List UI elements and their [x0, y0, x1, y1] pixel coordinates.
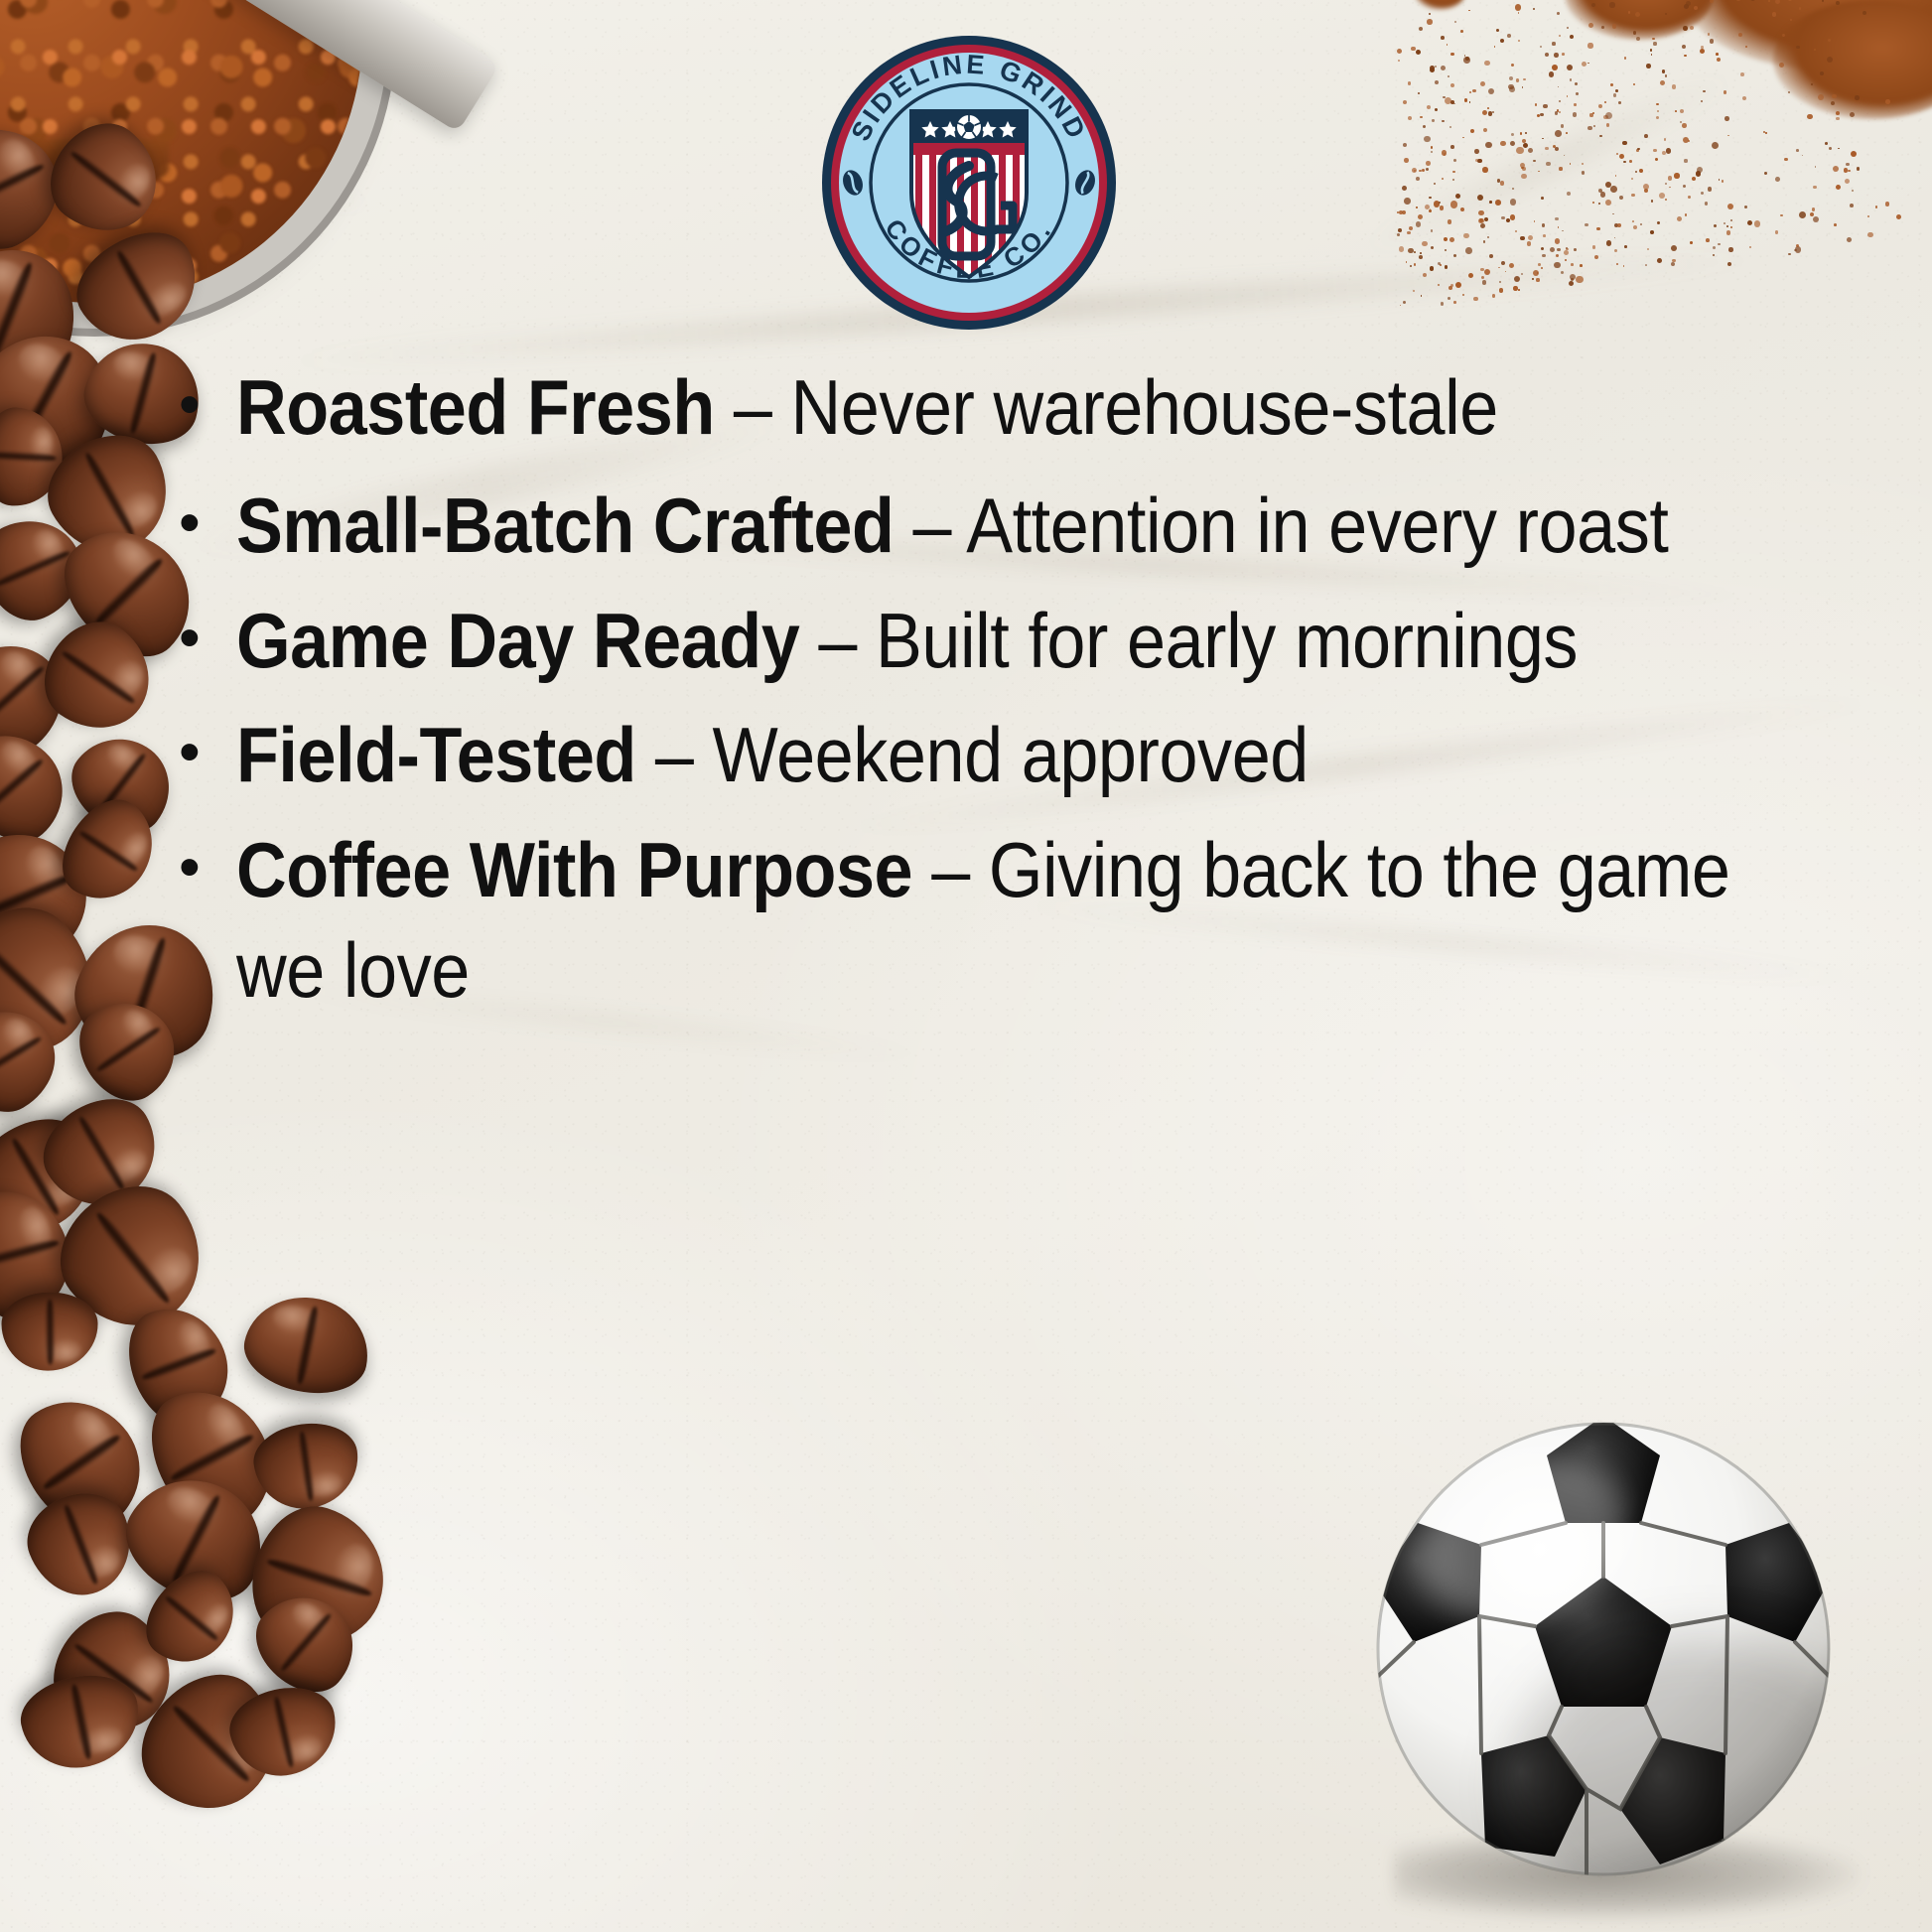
- bullet-game-day-ready: •Game Day Ready – Built for early mornin…: [179, 591, 1926, 691]
- bullet-title: Coffee With Purpose: [236, 826, 912, 913]
- bullet-marker: •: [179, 820, 236, 915]
- bullet-detail: – Attention in every roast: [894, 482, 1668, 569]
- bullet-detail: – Built for early mornings: [799, 597, 1578, 684]
- bullet-marker: •: [179, 591, 236, 686]
- bullet-field-tested: •Field-Tested – Weekend approved: [179, 705, 1926, 805]
- bullet-marker: •: [179, 705, 236, 800]
- bullet-text: Game Day Ready – Built for early morning…: [236, 591, 1757, 691]
- logo-soccer-ball-icon: [956, 114, 982, 140]
- bullet-title: Small-Batch Crafted: [236, 482, 894, 569]
- bullet-text: Field-Tested – Weekend approved: [236, 705, 1757, 805]
- bullet-title: Roasted Fresh: [236, 363, 715, 451]
- portafilter-spill: [0, 139, 169, 189]
- bullet-detail: – Weekend approved: [636, 711, 1309, 798]
- bullet-text: Small-Batch Crafted – Attention in every…: [236, 476, 1757, 576]
- soccer-ball: [1374, 1420, 1851, 1926]
- soccer-ball-graphic: [1374, 1420, 1833, 1878]
- bullet-title: Field-Tested: [236, 711, 636, 798]
- bullet-marker: •: [179, 357, 236, 453]
- bullet-text: Roasted Fresh – Never warehouse-stale: [236, 357, 1757, 458]
- bullet-roasted-fresh: •Roasted Fresh – Never warehouse-stale: [179, 357, 1926, 458]
- sideline-grind-logo: SIDELINE GRIND COFFEE CO.: [820, 34, 1118, 332]
- bullet-marker: •: [179, 476, 236, 571]
- bullet-text: Coffee With Purpose – Giving back to the…: [236, 820, 1757, 1022]
- bullet-coffee-with-purpose: •Coffee With Purpose – Giving back to th…: [179, 820, 1926, 1022]
- feature-bullet-list: •Roasted Fresh – Never warehouse-stale•S…: [179, 357, 1926, 1035]
- bullet-small-batch: •Small-Batch Crafted – Attention in ever…: [179, 476, 1926, 576]
- bullet-title: Game Day Ready: [236, 597, 799, 684]
- poster-canvas: SIDELINE GRIND COFFEE CO.: [0, 0, 1932, 1932]
- bullet-detail: – Never warehouse-stale: [715, 363, 1498, 451]
